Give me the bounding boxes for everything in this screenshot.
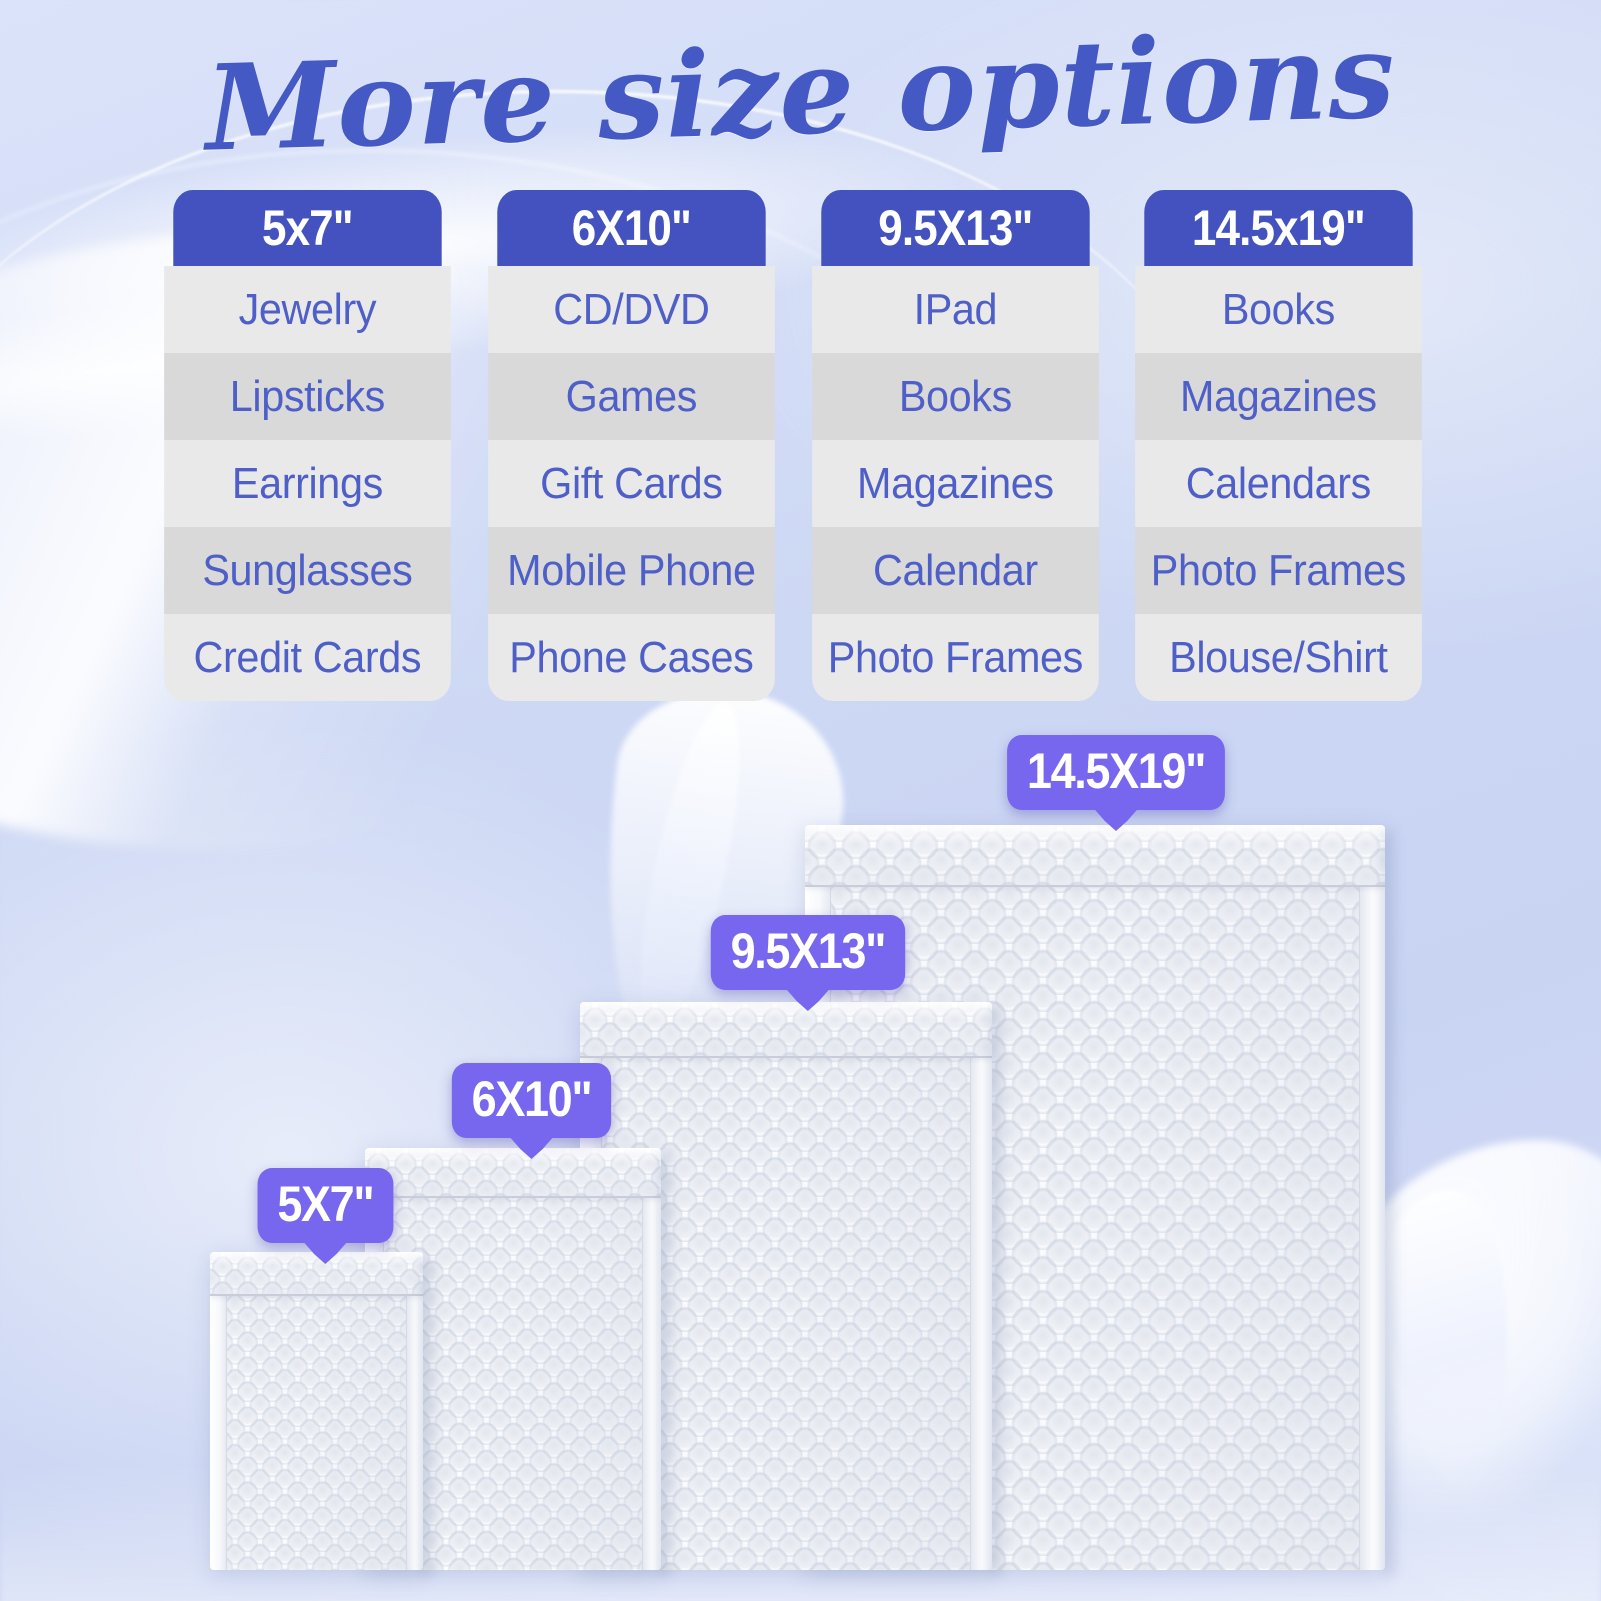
flap-highlight — [580, 1002, 992, 1020]
size-column-9-5x13: 9.5X13" IPad Books Magazines Calendar Ph… — [803, 190, 1108, 701]
table-cell: Gift Cards — [488, 440, 774, 527]
table-cell: IPad — [812, 266, 1098, 353]
size-column-6x10: 6X10" CD/DVD Games Gift Cards Mobile Pho… — [479, 190, 784, 701]
table-cell: Photo Frames — [1135, 527, 1421, 614]
size-badge-5x7: 5X7" — [258, 1168, 394, 1243]
table-cell: Magazines — [812, 440, 1098, 527]
table-cell: Calendars — [1135, 440, 1421, 527]
mailer-drop-shadow — [421, 1258, 437, 1576]
size-badge-9-5x13: 9.5X13" — [711, 915, 905, 990]
mailer-right-seal — [1359, 825, 1385, 1570]
table-cell: Books — [1135, 266, 1421, 353]
table-cell: Calendar — [812, 527, 1098, 614]
table-cell: Sunglasses — [164, 527, 450, 614]
mailer-body — [210, 1252, 423, 1570]
mailer-right-seal — [970, 1002, 992, 1570]
column-header-6x10: 6X10" — [497, 190, 765, 266]
column-header-5x7: 5x7" — [173, 190, 441, 266]
mailer-drop-shadow — [659, 1154, 675, 1576]
mailer-flap — [805, 825, 1385, 887]
mailer-flap — [210, 1252, 423, 1296]
flap-highlight — [805, 825, 1385, 845]
table-cell: Credit Cards — [164, 614, 450, 701]
table-cell: CD/DVD — [488, 266, 774, 353]
table-cell: Lipsticks — [164, 353, 450, 440]
mailer-flap — [365, 1148, 661, 1198]
column-header-14-5x19: 14.5x19" — [1145, 190, 1413, 266]
size-options-table: 5x7" Jewelry Lipsticks Earrings Sunglass… — [155, 190, 1431, 701]
page-title: More size options — [0, 0, 1601, 183]
size-column-5x7: 5x7" Jewelry Lipsticks Earrings Sunglass… — [155, 190, 460, 701]
mailer-flap — [580, 1002, 992, 1058]
size-badge-6x10: 6X10" — [452, 1063, 611, 1138]
table-cell: Jewelry — [164, 266, 450, 353]
size-column-14-5x19: 14.5x19" Books Magazines Calendars Photo… — [1126, 190, 1431, 701]
mailer-drop-shadow — [1383, 831, 1399, 1576]
table-cell: Games — [488, 353, 774, 440]
mailer-left-seal — [210, 1296, 227, 1570]
table-cell: Mobile Phone — [488, 527, 774, 614]
bubble-wrap-texture — [210, 1252, 423, 1570]
bubble-mailer-5x7 — [210, 1252, 423, 1570]
table-cell: Blouse/Shirt — [1135, 614, 1421, 701]
table-cell: Phone Cases — [488, 614, 774, 701]
table-cell: Books — [812, 353, 1098, 440]
size-badge-14-5x19: 14.5X19" — [1007, 735, 1225, 810]
flap-highlight — [365, 1148, 661, 1164]
table-cell: Magazines — [1135, 353, 1421, 440]
table-cell: Earrings — [164, 440, 450, 527]
silk-ribbon-center-fold — [620, 696, 759, 1043]
table-cell: Photo Frames — [812, 614, 1098, 701]
column-header-9-5x13: 9.5X13" — [821, 190, 1089, 266]
mailer-drop-shadow — [990, 1008, 1006, 1576]
